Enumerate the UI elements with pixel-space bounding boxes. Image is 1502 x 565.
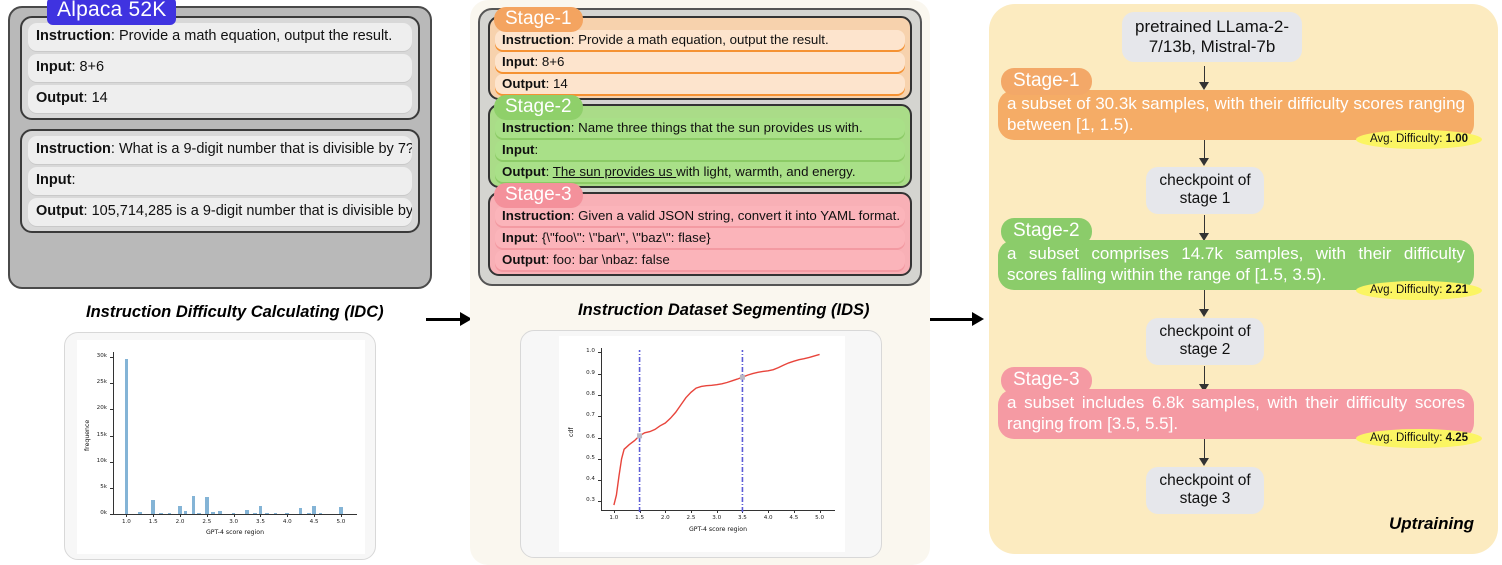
stage-description: a subset of 30.3k samples, with their di… [1007,94,1465,134]
cdf-chart: 0.30.40.50.60.70.80.91.01.01.52.02.53.03… [559,336,845,552]
output-text: foo: bar \nbaz: false [553,252,670,267]
histogram-bar [125,359,129,514]
input-label: Input [502,54,535,69]
output-text: : 105,714,285 is a 9-digit number that i… [84,203,412,219]
output-row: Output: 14 [495,74,905,94]
input-text: : 8+6 [71,59,104,75]
x-tick-label: 3.5 [251,519,269,525]
instruction-label: Instruction [502,208,571,223]
histogram-bar [319,513,323,514]
instruction-label: Instruction [36,141,111,157]
instruction-row: Instruction: Provide a math equation, ou… [495,30,905,50]
histogram-bar [312,506,316,514]
avg-difficulty-value: 1.00 [1446,133,1468,145]
histogram-bar [192,496,196,514]
difficulty-histogram: 0k5k10k15k20k25k30k1.01.52.02.53.03.54.0… [77,340,365,554]
histogram-bar [151,500,155,514]
stage-pill: Stage-2 [494,95,583,120]
alpaca-example-2: Instruction: What is a 9-digit number th… [20,129,420,233]
instruction-text: : Given a valid JSON string, convert it … [571,208,900,223]
avg-difficulty-label: Avg. Difficulty: [1370,432,1446,444]
histogram-bar [138,512,142,514]
instruction-text: : Provide a math equation, output the re… [111,28,392,44]
y-tick-label: 5k [77,484,107,490]
x-axis [113,514,357,515]
avg-difficulty-badge-2: Avg. Difficulty: 2.21 [1356,281,1482,300]
alpaca-dataset-card: Alpaca 52K Instruction: Provide a math e… [8,6,432,289]
uptraining-panel: pretrained LLama-2-7/13b, Mistral-7b Sta… [985,0,1502,565]
cdf-curve [559,336,845,552]
input-row: Input: [28,167,412,195]
histogram-bar [168,513,172,514]
input-text: : {\"foo\": \"bar\", \"baz\": flase} [535,230,711,245]
instruction-text: : Name three things that the sun provide… [571,120,863,135]
histogram-bar [274,513,278,514]
output-text: with light, warmth, and energy. [676,164,855,179]
avg-difficulty-label: Avg. Difficulty: [1370,284,1446,296]
input-text: : [71,172,75,188]
instruction-row: Instruction: Given a valid JSON string, … [495,206,905,226]
x-tick-label: 3.0 [225,519,243,525]
cdf-chart-frame: 0.30.40.50.60.70.80.91.01.01.52.02.53.03… [520,330,882,558]
output-row: Output: The sun provides us with light, … [495,162,905,182]
checkpoint-node-2: checkpoint of stage 2 [1146,318,1264,365]
histogram-bar [307,513,311,514]
stage-pill: Stage-3 [1001,367,1092,394]
stage-block-1: Stage-1 Instruction: Provide a math equa… [488,16,912,100]
avg-difficulty-badge-3: Avg. Difficulty: 4.25 [1356,429,1482,448]
x-axis-label: GPT-4 score region [113,529,357,536]
histogram-bar [184,511,188,514]
histogram-bar [159,513,163,514]
histogram-bar [197,513,201,514]
input-row: Input: {\"foo\": \"bar\", \"baz\": flase… [495,228,905,248]
arrow-head-icon [1199,82,1209,90]
y-tick-label: 10k [77,458,107,464]
ids-caption: Instruction Dataset Segmenting (IDS) [578,301,870,320]
y-tick-label: 0k [77,510,107,516]
histogram-bar [232,513,236,514]
output-underlined: The sun provides us [553,164,676,179]
histogram-bar [299,508,303,514]
flow-arrow-idc-to-ids [426,311,472,327]
output-label: Output [36,203,84,219]
instruction-row: Instruction: Name three things that the … [495,118,905,138]
output-label: Output [502,164,546,179]
stage-pill: Stage-1 [1001,68,1092,95]
output-row: Output: foo: bar \nbaz: false [495,250,905,270]
difficulty-histogram-frame: 0k5k10k15k20k25k30k1.01.52.02.53.03.54.0… [64,332,376,560]
instruction-text: : Provide a math equation, output the re… [571,32,829,47]
x-tick-label: 1.5 [144,519,162,525]
y-tick-label: 20k [77,405,107,411]
uptraining-label: Uptraining [1389,514,1474,534]
input-label: Input [36,172,71,188]
histogram-bar [253,513,257,514]
instruction-label: Instruction [502,120,571,135]
histogram-bar [285,513,289,514]
instruction-text: : What is a 9-digit number that is divis… [111,141,412,157]
output-prefix: : [546,252,553,267]
output-label: Output [502,76,546,91]
stage-pill: Stage-1 [494,7,583,32]
avg-difficulty-value: 2.21 [1446,284,1468,296]
histogram-bar [218,511,222,514]
arrow-head-icon [1199,458,1209,466]
avg-difficulty-badge-1: Avg. Difficulty: 1.00 [1356,130,1482,149]
histogram-bar [265,513,269,514]
histogram-bar [178,506,182,514]
output-label: Output [36,90,84,106]
histogram-bar [211,512,215,514]
stage-block-3: Stage-3 Instruction: Given a valid JSON … [488,192,912,276]
y-tick-label: 15k [77,432,107,438]
input-row: Input: 8+6 [495,52,905,72]
avg-difficulty-value: 4.25 [1446,432,1468,444]
y-axis-label: frequence [84,420,91,451]
output-row: Output: 14 [28,85,412,113]
input-label: Input [502,142,535,157]
output-prefix: : [546,76,553,91]
stage-pill: Stage-2 [1001,218,1092,245]
histogram-bar [205,497,209,514]
idc-caption: Instruction Difficulty Calculating (IDC) [86,303,384,322]
instruction-label: Instruction [502,32,571,47]
pretrained-model-node: pretrained LLama-2-7/13b, Mistral-7b [1122,12,1302,62]
arrow-head-icon [1199,309,1209,317]
stage-description: a subset includes 6.8k samples, with the… [1007,393,1465,433]
x-tick-label: 2.0 [171,519,189,525]
input-row: Input: 8+6 [28,54,412,82]
instruction-label: Instruction [36,28,111,44]
histogram-bar [245,510,249,514]
alpaca-example-1: Instruction: Provide a math equation, ou… [20,16,420,120]
histogram-bar [339,507,343,514]
x-tick-label: 4.0 [278,519,296,525]
checkpoint-node-1: checkpoint of stage 1 [1146,167,1264,214]
flow-arrow-ids-to-uptraining [930,311,986,327]
uptraining-container: pretrained LLama-2-7/13b, Mistral-7b Sta… [989,4,1498,554]
x-axis-label: GPT-4 score region [601,526,835,533]
y-tick-label: 25k [77,379,107,385]
input-row: Input: [495,140,905,160]
output-text: : 14 [84,90,108,106]
stage-block-2: Stage-2 Instruction: Name three things t… [488,104,912,188]
input-label: Input [36,59,71,75]
avg-difficulty-label: Avg. Difficulty: [1370,133,1446,145]
output-text: 14 [553,76,568,91]
x-tick-label: 4.5 [305,519,323,525]
x-tick-label: 1.0 [117,519,135,525]
output-label: Output [502,252,546,267]
alpaca-badge: Alpaca 52K [47,0,176,25]
segmented-stages-card: Stage-1 Instruction: Provide a math equa… [478,8,922,286]
checkpoint-node-3: checkpoint of stage 3 [1146,467,1264,514]
x-tick-label: 5.0 [332,519,350,525]
input-text: : 8+6 [535,54,565,69]
histogram-bar [259,506,263,514]
y-axis [113,352,114,514]
instruction-row: Instruction: What is a 9-digit number th… [28,136,412,164]
output-prefix: : [546,164,553,179]
arrow-head-icon [1199,158,1209,166]
input-text: : [535,142,539,157]
y-tick-label: 30k [77,353,107,359]
stage-pill: Stage-3 [494,183,583,208]
y-axis-label: cdf [568,427,575,437]
stage-description: a subset comprises 14.7k samples, with t… [1007,244,1465,284]
instruction-row: Instruction: Provide a math equation, ou… [28,23,412,51]
output-row: Output: 105,714,285 is a 9-digit number … [28,198,412,226]
input-label: Input [502,230,535,245]
x-tick-label: 2.5 [198,519,216,525]
